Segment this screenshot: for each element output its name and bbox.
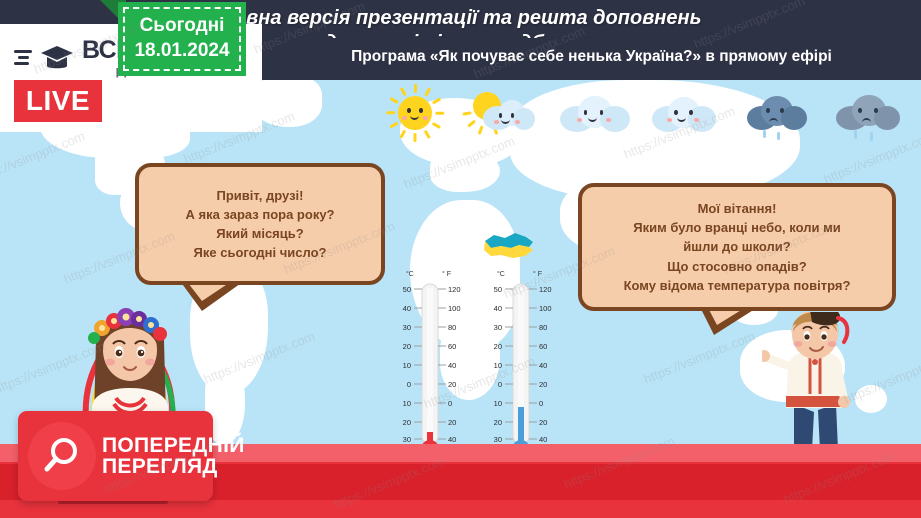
bubble-left-line-4: Яке сьогодні число? (194, 243, 327, 262)
svg-text:30: 30 (403, 435, 411, 444)
svg-text:120: 120 (539, 285, 552, 294)
partly-cloudy-icon (461, 84, 552, 142)
svg-text:0: 0 (448, 399, 452, 408)
weather-icon-strip (370, 84, 915, 142)
date-badge: Сьогодні 18.01.2024 (118, 2, 246, 76)
thermometer-celsius-left: °C ° F 504030 20100 102030 12010 (396, 264, 464, 464)
svg-text:50: 50 (494, 285, 502, 294)
purchase-line-1: Повна версія презентації та решта доповн… (220, 6, 702, 31)
slide-canvas: Програма «Як почуває себе ненька Україна… (0, 0, 921, 518)
thermometer-celsius-right: °C ° F 504030 20100 102030 12010 (487, 264, 555, 464)
preview-badge-line-1: ПОПЕРЕДНІЙ (102, 435, 245, 456)
svg-text:40: 40 (494, 304, 502, 313)
ukraine-flag-icon (481, 228, 537, 262)
svg-text:40: 40 (448, 435, 456, 444)
svg-text:100: 100 (448, 304, 461, 313)
boy-character (762, 312, 872, 464)
svg-text:40: 40 (539, 361, 547, 370)
svg-text:100: 100 (539, 304, 552, 313)
svg-text:°C: °C (497, 270, 505, 278)
svg-text:40: 40 (448, 361, 456, 370)
svg-text:20: 20 (539, 418, 547, 427)
bubble-right-line-3: йшли до школи? (683, 237, 790, 256)
svg-text:40: 40 (539, 435, 547, 444)
live-badge: LIVE (14, 80, 102, 122)
bubble-right-line-2: Яким було вранці небо, коли ми (633, 218, 840, 237)
svg-text:60: 60 (448, 342, 456, 351)
svg-text:80: 80 (539, 323, 547, 332)
svg-text:20: 20 (539, 380, 547, 389)
svg-text:30: 30 (403, 323, 411, 332)
live-label: LIVE (26, 85, 90, 117)
svg-text:10: 10 (494, 361, 502, 370)
sunny-icon (370, 84, 461, 142)
program-title-text: Програма «Як почуває себе ненька Україна… (351, 48, 832, 66)
cloudy-light-icon (552, 84, 643, 142)
speech-bubble-right: Мої вітання! Яким було вранці небо, коли… (578, 183, 896, 311)
bubble-left-line-3: Який місяць? (216, 224, 303, 243)
preview-badge[interactable]: ПОПЕРЕДНІЙ ПЕРЕГЛЯД (18, 411, 213, 501)
bubble-right-line-4: Що стосовно опадів? (667, 257, 806, 276)
svg-text:10: 10 (403, 399, 411, 408)
bubble-left-line-2: А яка зараз пора року? (186, 205, 335, 224)
svg-text:20: 20 (448, 418, 456, 427)
svg-text:10: 10 (494, 399, 502, 408)
magnifier-icon (28, 422, 96, 490)
program-title-banner: Програма «Як почуває себе ненька Україна… (262, 38, 921, 76)
svg-text:20: 20 (403, 418, 411, 427)
preview-badge-line-2: ПЕРЕГЛЯД (102, 456, 245, 477)
svg-text:40: 40 (403, 304, 411, 313)
svg-text:20: 20 (494, 418, 502, 427)
bubble-right-line-5: Кому відома температура повітря? (624, 276, 851, 295)
speed-lines-icon (14, 50, 32, 65)
date-badge-label: Сьогодні (140, 14, 225, 39)
svg-text:° F: ° F (533, 270, 542, 278)
svg-text:20: 20 (403, 342, 411, 351)
svg-text:30: 30 (494, 323, 502, 332)
bubble-right-line-1: Мої вітання! (698, 199, 777, 218)
svg-text:0: 0 (539, 399, 543, 408)
storm-cloud-icon (824, 84, 915, 142)
rain-cloud-icon (733, 84, 824, 142)
svg-text:0: 0 (498, 380, 502, 389)
speech-bubble-left: Привіт, друзі! А яка зараз пора року? Як… (135, 163, 385, 285)
bubble-left-line-1: Привіт, друзі! (217, 186, 304, 205)
svg-text:50: 50 (403, 285, 411, 294)
svg-text:20: 20 (448, 380, 456, 389)
svg-text:20: 20 (494, 342, 502, 351)
svg-text:0: 0 (407, 380, 411, 389)
svg-text:10: 10 (403, 361, 411, 370)
svg-text:60: 60 (539, 342, 547, 351)
svg-text:° F: ° F (442, 270, 451, 278)
cloudy-light-2-icon (642, 84, 733, 142)
svg-text:°C: °C (406, 270, 414, 278)
date-badge-value: 18.01.2024 (134, 39, 229, 64)
graduation-cap-icon (39, 44, 75, 72)
svg-text:120: 120 (448, 285, 461, 294)
svg-text:30: 30 (494, 435, 502, 444)
svg-text:80: 80 (448, 323, 456, 332)
